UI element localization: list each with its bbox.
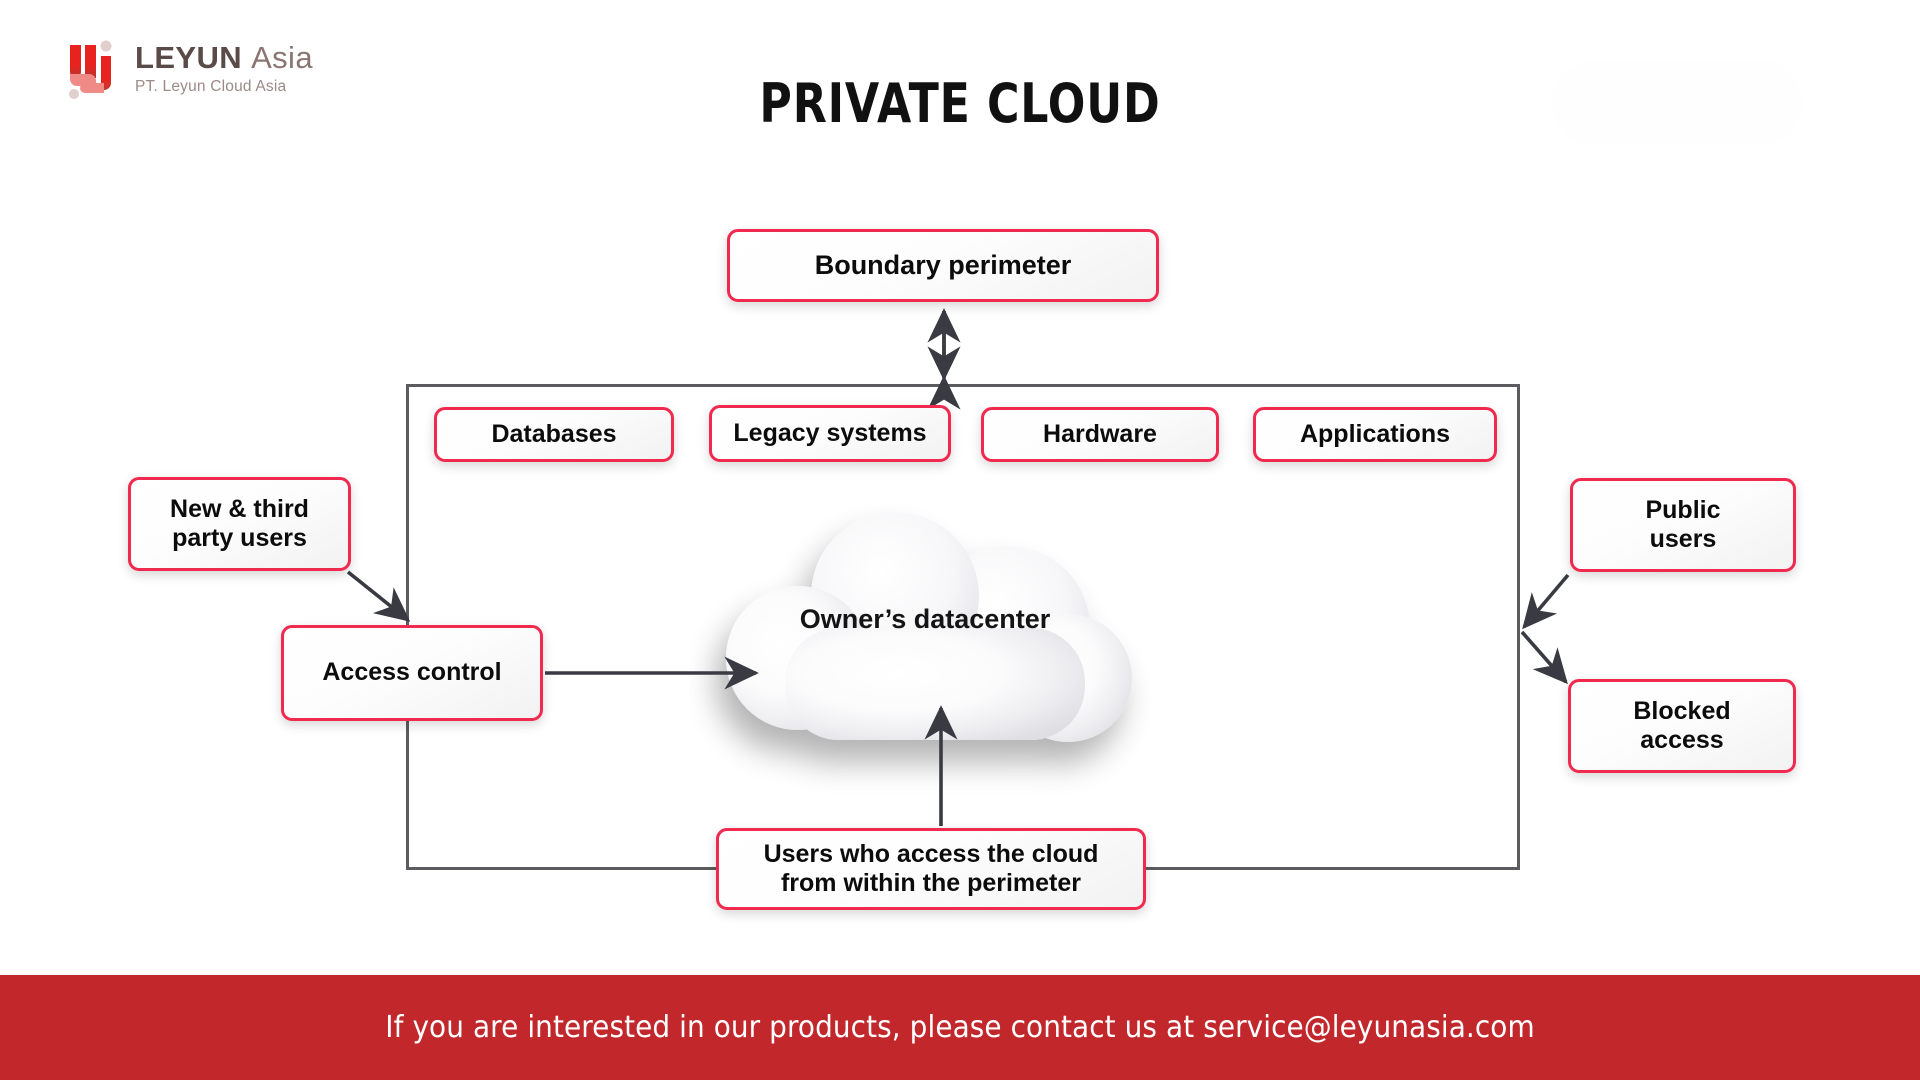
component-box-hardware[interactable]: Hardware xyxy=(981,407,1219,462)
public-users-line1: Public xyxy=(1645,496,1720,524)
contact-footer-text: If you are interested in our products, p… xyxy=(385,1010,1534,1045)
actor-box-new-third-party-users[interactable]: New & third party users xyxy=(128,477,351,571)
internal-users-line2: from within the perimeter xyxy=(781,869,1081,897)
component-box-legacy-systems[interactable]: Legacy systems xyxy=(709,405,951,462)
component-box-applications[interactable]: Applications xyxy=(1253,407,1497,462)
leyun-lj-mark-icon xyxy=(68,36,122,102)
status-box-blocked-access[interactable]: Blocked access xyxy=(1568,679,1796,773)
component-box-databases[interactable]: Databases xyxy=(434,407,674,462)
component-label-hardware: Hardware xyxy=(1043,420,1157,450)
arrow-perimeter-to-blocked xyxy=(1522,632,1566,682)
control-box-access-control[interactable]: Access control xyxy=(281,625,543,721)
component-label-applications: Applications xyxy=(1300,420,1450,450)
cloud-icon: Owner’s datacenter xyxy=(690,478,1160,808)
boundary-perimeter-label: Boundary perimeter xyxy=(815,250,1072,282)
brand-name-light: Asia xyxy=(251,40,313,75)
arrow-public-to-perimeter xyxy=(1524,575,1568,627)
actor-label-public-users: Public users xyxy=(1645,496,1720,555)
component-label-databases: Databases xyxy=(491,420,616,450)
status-label-blocked-access: Blocked access xyxy=(1633,697,1730,756)
arrow-newthird-to-access xyxy=(348,572,408,620)
actor-label-new-third-party-users: New & third party users xyxy=(170,495,309,554)
slide-canvas: LEYUNAsia PT. Leyun Cloud Asia PRIVATE C… xyxy=(0,0,1920,1080)
new-third-line1: New & third xyxy=(170,495,309,523)
boundary-perimeter-box[interactable]: Boundary perimeter xyxy=(727,229,1159,302)
page-title: PRIVATE CLOUD xyxy=(173,72,1747,135)
brand-name-bold: LEYUN xyxy=(135,40,242,75)
control-label-access-control: Access control xyxy=(322,658,501,688)
internal-users-line1: Users who access the cloud xyxy=(764,840,1099,868)
actor-label-internal-users: Users who access the cloud from within t… xyxy=(764,840,1099,899)
blocked-access-line2: access xyxy=(1640,726,1723,754)
component-label-legacy-systems: Legacy systems xyxy=(733,419,926,449)
public-users-line2: users xyxy=(1650,525,1717,553)
new-third-line2: party users xyxy=(172,524,307,552)
contact-footer-banner: If you are interested in our products, p… xyxy=(0,975,1920,1080)
actor-box-internal-users[interactable]: Users who access the cloud from within t… xyxy=(716,828,1146,910)
blocked-access-line1: Blocked xyxy=(1633,697,1730,725)
actor-box-public-users[interactable]: Public users xyxy=(1570,478,1796,572)
cloud-label: Owner’s datacenter xyxy=(690,604,1160,635)
